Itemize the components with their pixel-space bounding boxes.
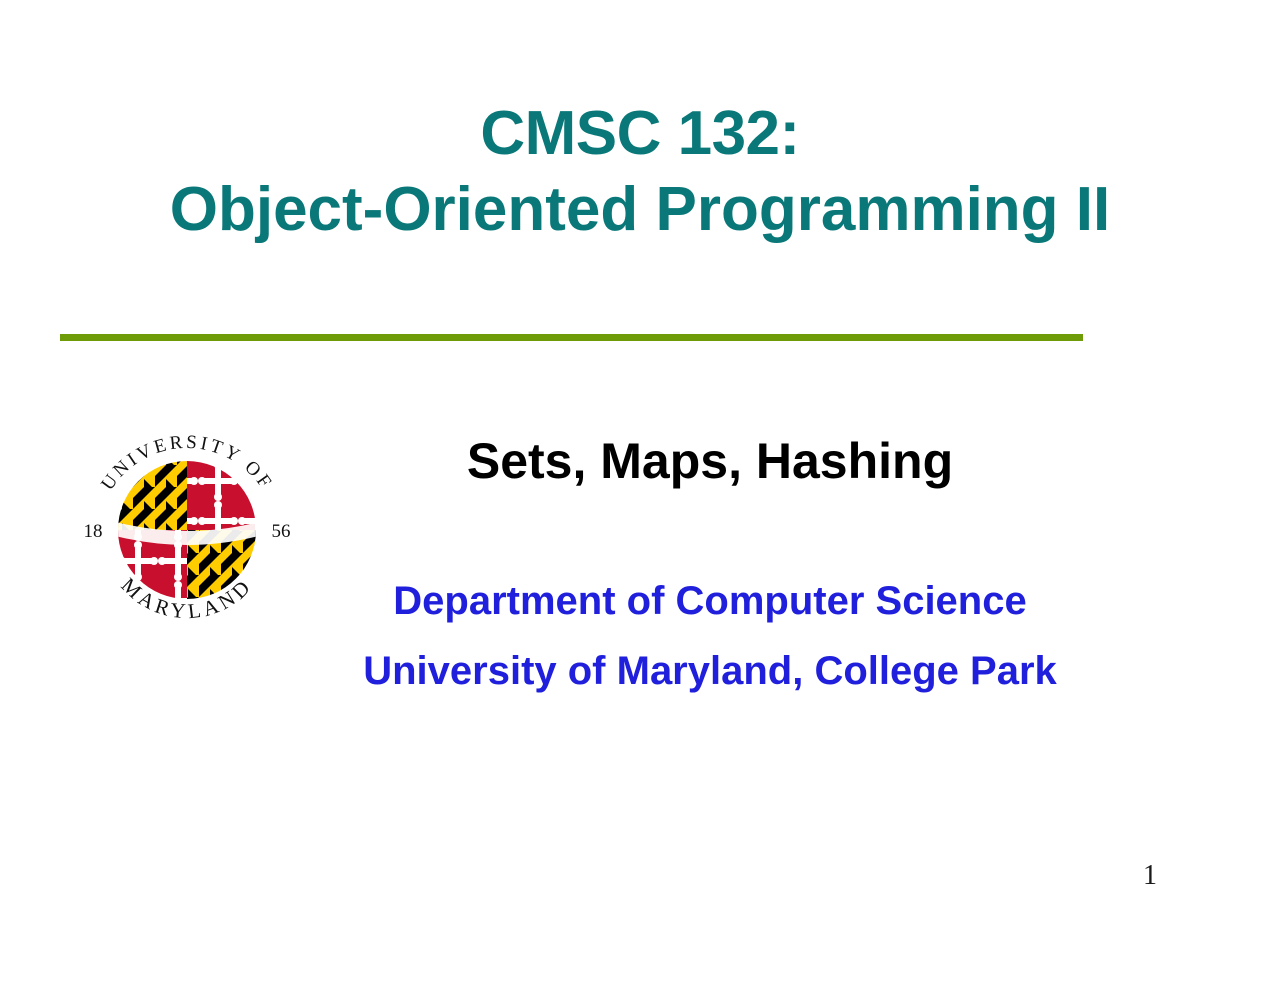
affiliation-university: University of Maryland, College Park xyxy=(250,636,1170,706)
slide-page-number: 1 xyxy=(1130,860,1170,892)
seal-year-right: 56 xyxy=(272,521,291,542)
title-line-1: CMSC 132: xyxy=(0,96,1280,172)
title-divider-rule xyxy=(60,334,1083,341)
slide-title: CMSC 132: Object-Oriented Programming II xyxy=(0,96,1280,248)
slide-canvas: CMSC 132: Object-Oriented Programming II xyxy=(0,0,1280,989)
lecture-subject-heading: Sets, Maps, Hashing xyxy=(330,430,1090,492)
seal-year-left: 18 xyxy=(84,521,103,542)
title-line-2: Object-Oriented Programming II xyxy=(0,172,1280,248)
affiliation-block: Department of Computer Science Universit… xyxy=(250,566,1170,706)
affiliation-department: Department of Computer Science xyxy=(250,566,1170,636)
